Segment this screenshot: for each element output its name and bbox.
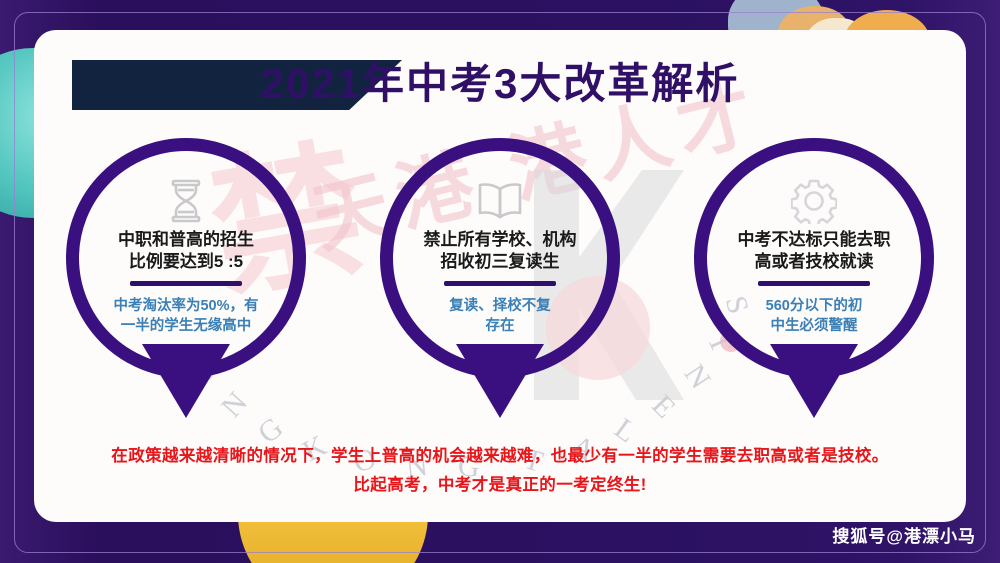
pin-subtitle: 中考淘汰率为50%，有 一半的学生无缘高中 <box>99 296 272 337</box>
open-book-icon <box>475 177 525 225</box>
pin-divider <box>444 281 556 286</box>
hourglass-icon <box>165 177 207 225</box>
pin-card-3: 中考不达标只能去职 高或者技校就读 560分以下的初 中生必须警醒 <box>694 138 934 378</box>
pin-group: 中职和普高的招生 比例要达到5 :5 中考淘汰率为50%，有 一半的学生无缘高中 <box>34 138 966 378</box>
page-title: 2021年中考3大改革解析 <box>34 50 966 111</box>
pin-heading: 中职和普高的招生 比例要达到5 :5 <box>106 229 266 274</box>
pin-circle: 中职和普高的招生 比例要达到5 :5 中考淘汰率为50%，有 一半的学生无缘高中 <box>66 138 306 378</box>
sohu-watermark: 搜狐号@港漂小马 <box>832 522 976 547</box>
alert-text-block: 在政策越来越清晰的情况下，学生上普高的机会越来越难，也最少有一半的学生需要去职高… <box>34 442 966 500</box>
alert-line-1: 在政策越来越清晰的情况下，学生上普高的机会越来越难，也最少有一半的学生需要去职高… <box>34 442 966 471</box>
pin-heading: 中考不达标只能去职 高或者技校就读 <box>726 229 903 274</box>
pin-heading: 禁止所有学校、机构 招收初三复读生 <box>412 229 589 274</box>
pin-circle: 禁止所有学校、机构 招收初三复读生 复读、择校不复 存在 <box>380 138 620 378</box>
pin-divider <box>130 281 242 286</box>
pin-circle: 中考不达标只能去职 高或者技校就读 560分以下的初 中生必须警醒 <box>694 138 934 378</box>
gear-icon <box>791 177 837 225</box>
pin-card-1: 中职和普高的招生 比例要达到5 :5 中考淘汰率为50%，有 一半的学生无缘高中 <box>66 138 306 378</box>
alert-line-2: 比起高考，中考才是真正的一考定终生! <box>34 471 966 500</box>
content-card: 禁 天港 港人才 O N G K O N G T A L E N T S 202… <box>34 30 966 522</box>
pin-subtitle: 复读、择校不复 存在 <box>435 296 565 337</box>
pin-card-2: 禁止所有学校、机构 招收初三复读生 复读、择校不复 存在 <box>380 138 620 378</box>
poster-stage: 禁 天港 港人才 O N G K O N G T A L E N T S 202… <box>0 0 1000 563</box>
pin-divider <box>758 281 870 286</box>
pin-subtitle: 560分以下的初 中生必须警醒 <box>752 296 877 337</box>
